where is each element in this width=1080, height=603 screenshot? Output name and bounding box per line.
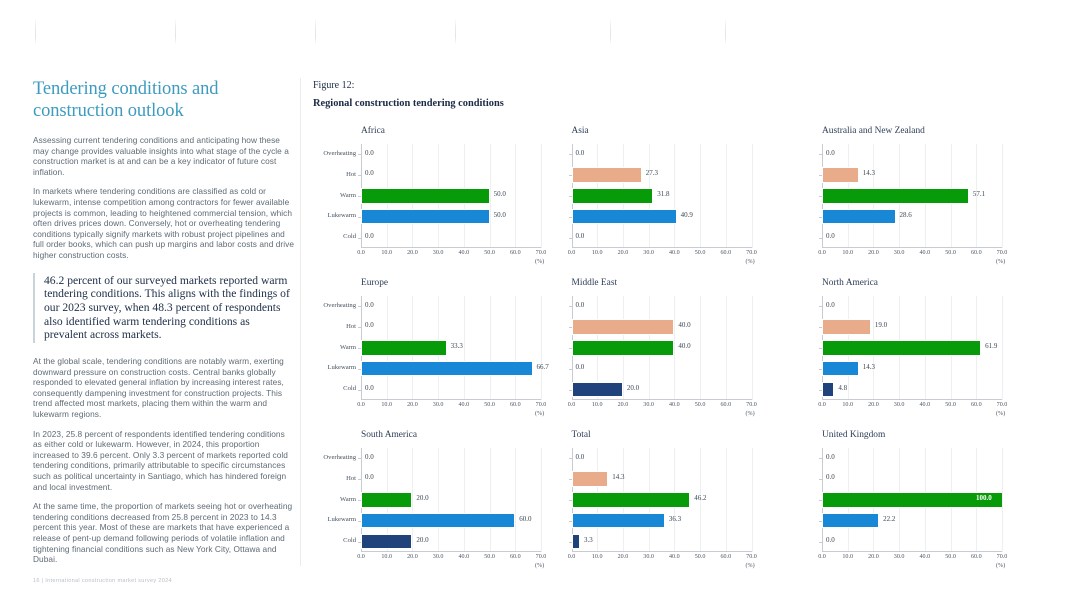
plot-area: 0.014.357.128.60.0 [822,144,1002,248]
x-tick-label: 60.0 [971,554,982,560]
x-tick-label: 60.0 [510,554,521,560]
plot: 0.0Overheating0.0Hot33.3Warm66.7Lukewarm… [361,296,541,400]
x-axis-unit: (%) [746,259,755,265]
bar [572,513,665,529]
bar-value-label: 0.0 [576,232,585,240]
x-tick-label: 60.0 [510,402,521,408]
x-tick-label: 20.0 [868,250,879,256]
plot: 0.00.0100.022.20.0 [822,448,1002,552]
gridline [752,448,753,552]
x-tick-label: 70.0 [746,402,757,408]
article-paragraph: Assessing current tendering conditions a… [33,135,295,177]
gridline [541,448,542,552]
x-tick-label: 60.0 [971,402,982,408]
x-tick-label: 20.0 [618,402,629,408]
bar [822,209,896,225]
x-tick-label: 10.0 [592,402,603,408]
x-tick-label: 10.0 [381,554,392,560]
bar [572,167,642,183]
x-tick-label: 40.0 [920,554,931,560]
gridline [752,296,753,400]
bar-value-label: 14.3 [863,363,875,371]
bar-row: 57.1 [822,186,1002,207]
x-axis: 0.010.020.030.040.050.060.070.0 [822,402,1002,411]
crop-mark [175,18,176,45]
bar-row: 14.3 [822,358,1002,379]
bar-value-label: 22.2 [883,515,895,523]
article-paragraph: In 2023, 25.8 percent of respondents ide… [33,429,295,493]
x-tick-label: 20.0 [407,250,418,256]
category-label: Cold [315,537,356,544]
x-tick-label: 30.0 [433,554,444,560]
bar-value-label: 40.0 [678,321,690,329]
bar-row: 0.0Hot [361,165,541,186]
bar-value-label: 0.0 [365,384,374,392]
bar-row: 0.0Hot [361,317,541,338]
x-tick-label: 40.0 [459,554,470,560]
x-tick-label: 50.0 [484,554,495,560]
x-tick-label: 20.0 [868,554,879,560]
bar-value-label: 0.0 [826,149,835,157]
bar [572,188,654,204]
category-label: Warm [315,344,356,351]
category-label: Warm [315,192,356,199]
x-tick-label: 60.0 [720,554,731,560]
x-tick-label: 70.0 [746,250,757,256]
crop-mark [455,18,456,45]
x-axis: 0.010.020.030.040.050.060.070.0 [361,250,541,259]
x-tick-label: 10.0 [592,250,603,256]
y-tick [819,458,822,459]
article-paragraph: At the global scale, tendering condition… [33,356,295,420]
bar [572,382,623,398]
chart-panel: Asia0.027.331.840.90.00.010.020.030.040.… [564,120,815,272]
crop-mark [35,18,36,45]
x-axis-unit: (%) [996,259,1005,265]
bar-value-label: 0.0 [365,473,374,481]
bar-row: 40.0 [572,338,752,359]
category-label: Overheating [315,454,356,461]
x-tick-label: 0.0 [357,554,365,560]
bar-value-label: 14.3 [863,169,875,177]
bar-value-label: 60.0 [519,515,531,523]
bar-value-label: 100.0 [976,494,992,502]
chart-panel-title: Africa [361,126,385,136]
bar [572,471,609,487]
x-tick-label: 20.0 [868,402,879,408]
x-axis-unit: (%) [746,563,755,569]
x-tick-label: 50.0 [484,250,495,256]
bar-value-label: 66.7 [537,363,549,371]
plot-area: 0.00.0100.022.20.0 [822,448,1002,552]
bar [572,534,580,550]
x-axis-unit: (%) [746,411,755,417]
bar-row: 0.0Overheating [361,144,541,165]
x-axis-unit: (%) [535,259,544,265]
chart-panel-title: Middle East [572,278,618,288]
bar-row: 0.0 [572,448,752,469]
x-axis: 0.010.020.030.040.050.060.070.0 [822,250,1002,259]
bar-row: 28.6 [822,206,1002,227]
x-tick-label: 70.0 [997,554,1008,560]
x-tick-label: 40.0 [459,250,470,256]
y-tick [358,479,361,480]
y-tick [819,238,822,239]
bar [572,319,675,335]
category-label: Hot [315,323,356,330]
bar-row: 0.0 [822,296,1002,317]
bar [822,492,1002,508]
y-tick [819,154,822,155]
x-tick-label: 30.0 [643,554,654,560]
bar [361,209,490,225]
bar [822,513,879,529]
y-tick [358,306,361,307]
category-label: Hot [315,171,356,178]
x-tick-label: 20.0 [618,554,629,560]
category-label: Lukewarm [315,516,356,523]
x-tick-label: 30.0 [894,554,905,560]
plot-area: 0.040.040.00.020.0 [572,296,752,400]
x-tick-label: 40.0 [669,554,680,560]
bar [361,340,447,356]
x-tick-label: 40.0 [920,402,931,408]
y-tick [569,306,572,307]
category-label: Overheating [315,302,356,309]
bar-value-label: 20.0 [627,384,639,392]
bar-value-label: 27.3 [646,169,658,177]
category-label: Overheating [315,150,356,157]
y-tick [569,369,572,370]
x-tick-label: 0.0 [357,250,365,256]
chart-panel-title: Australia and New Zealand [822,126,925,136]
x-tick-label: 60.0 [510,250,521,256]
bar-row: 0.0 [572,144,752,165]
bar-row: 60.0Lukewarm [361,510,541,531]
bar-value-label: 0.0 [365,301,374,309]
y-tick [569,238,572,239]
bar-value-label: 57.1 [973,190,985,198]
x-tick-label: 60.0 [971,250,982,256]
x-tick-label: 0.0 [568,250,576,256]
bar-row: 0.0 [822,144,1002,165]
bar-row: 0.0 [822,469,1002,490]
bar [572,492,691,508]
figure-title: Regional construction tendering conditio… [313,98,504,109]
x-tick-label: 0.0 [818,554,826,560]
plot-area: 0.0Overheating0.0Hot50.0Warm50.0Lukewarm… [361,144,541,248]
bar-value-label: 61.9 [985,342,997,350]
chart-panel-title: Europe [361,278,388,288]
y-tick [358,327,361,328]
bar-row: 0.0Overheating [361,296,541,317]
bar-row: 0.0Overheating [361,448,541,469]
bar-value-label: 0.0 [365,453,374,461]
bar [361,534,412,550]
x-tick-label: 30.0 [643,402,654,408]
x-tick-label: 10.0 [381,250,392,256]
plot: 0.014.357.128.60.0 [822,144,1002,248]
crop-mark [725,18,726,45]
bar [822,361,859,377]
bar-row: 46.2 [572,490,752,511]
plot: 0.0Overheating0.0Hot20.0Warm60.0Lukewarm… [361,448,541,552]
x-tick-label: 70.0 [746,554,757,560]
bar-value-label: 0.0 [576,453,585,461]
chart-panel-title: South America [361,430,417,440]
bar-row: 61.9 [822,338,1002,359]
bar-value-label: 0.0 [576,301,585,309]
bar-value-label: 20.0 [416,536,428,544]
category-label: Lukewarm [315,364,356,371]
bar-row: 0.0 [572,227,752,248]
bar [361,492,412,508]
bar-row: 33.3Warm [361,338,541,359]
x-tick-label: 40.0 [669,250,680,256]
x-axis: 0.010.020.030.040.050.060.070.0 [822,554,1002,563]
y-tick [358,238,361,239]
y-tick [569,154,572,155]
bar-row: 0.0Hot [361,469,541,490]
category-label: Warm [315,496,356,503]
bar [572,340,675,356]
gridline [1002,448,1003,552]
bar-row: 14.3 [822,165,1002,186]
figure-label: Figure 12: [313,80,354,91]
bar-value-label: 19.0 [875,321,887,329]
x-tick-label: 30.0 [433,250,444,256]
chart-panel-title: Asia [572,126,589,136]
x-axis: 0.010.020.030.040.050.060.070.0 [361,554,541,563]
x-tick-label: 70.0 [997,402,1008,408]
bar [822,319,871,335]
bar-row: 0.0 [822,227,1002,248]
x-tick-label: 60.0 [720,402,731,408]
plot: 0.014.346.236.33.3 [572,448,752,552]
x-tick-label: 50.0 [695,250,706,256]
bar [822,340,981,356]
bar-row: 0.0Cold [361,379,541,400]
category-label: Cold [315,385,356,392]
plot-area: 0.027.331.840.90.0 [572,144,752,248]
bar-value-label: 0.0 [365,169,374,177]
bar-row: 36.3 [572,510,752,531]
x-tick-label: 0.0 [818,250,826,256]
bar-value-label: 40.0 [678,342,690,350]
x-tick-label: 0.0 [568,402,576,408]
bar-row: 20.0Cold [361,531,541,552]
bar [822,382,834,398]
category-label: Hot [315,475,356,482]
plot-area: 0.0Overheating0.0Hot20.0Warm60.0Lukewarm… [361,448,541,552]
x-axis: 0.010.020.030.040.050.060.070.0 [572,554,752,563]
y-tick [358,390,361,391]
x-tick-label: 40.0 [459,402,470,408]
bar-value-label: 0.0 [826,536,835,544]
chart-panel-title: North America [822,278,878,288]
x-tick-label: 10.0 [842,250,853,256]
x-tick-label: 30.0 [894,402,905,408]
plot-area: 0.0Overheating0.0Hot33.3Warm66.7Lukewarm… [361,296,541,400]
bar [361,361,533,377]
bar-row: 4.8 [822,379,1002,400]
x-tick-label: 40.0 [920,250,931,256]
x-tick-label: 70.0 [536,402,547,408]
y-tick [358,154,361,155]
chart-panel: South America0.0Overheating0.0Hot20.0War… [313,424,564,576]
bar-value-label: 33.3 [451,342,463,350]
bar [822,167,859,183]
crop-mark [315,18,316,45]
bar-value-label: 0.0 [826,301,835,309]
bar-value-label: 50.0 [494,190,506,198]
bar-value-label: 4.8 [838,384,847,392]
bar-value-label: 14.3 [612,473,624,481]
bar-value-label: 0.0 [365,321,374,329]
x-tick-label: 50.0 [945,250,956,256]
bar-value-label: 36.3 [669,515,681,523]
x-tick-label: 0.0 [818,402,826,408]
x-tick-label: 20.0 [407,402,418,408]
x-tick-label: 50.0 [695,402,706,408]
y-tick [819,542,822,543]
x-tick-label: 50.0 [945,402,956,408]
x-tick-label: 70.0 [997,250,1008,256]
x-axis: 0.010.020.030.040.050.060.070.0 [361,402,541,411]
bar [361,513,515,529]
x-axis-unit: (%) [535,411,544,417]
x-axis-unit: (%) [535,563,544,569]
bar-row: 66.7Lukewarm [361,358,541,379]
plot: 0.027.331.840.90.0 [572,144,752,248]
x-tick-label: 50.0 [484,402,495,408]
bar-row: 19.0 [822,317,1002,338]
x-tick-label: 20.0 [407,554,418,560]
gridline [541,296,542,400]
bar-row: 20.0Warm [361,490,541,511]
x-tick-label: 10.0 [381,402,392,408]
x-tick-label: 30.0 [894,250,905,256]
x-tick-label: 60.0 [720,250,731,256]
bar-value-label: 3.3 [584,536,593,544]
chart-grid: Africa0.0Overheating0.0Hot50.0Warm50.0Lu… [313,120,1065,576]
bar-row: 31.8 [572,186,752,207]
bar-value-label: 0.0 [365,149,374,157]
bar-value-label: 0.0 [365,232,374,240]
y-tick [569,458,572,459]
gridline [1002,296,1003,400]
x-tick-label: 0.0 [568,554,576,560]
bar [572,209,677,225]
x-tick-label: 30.0 [643,250,654,256]
x-tick-label: 40.0 [669,402,680,408]
bar-row: 14.3 [572,469,752,490]
category-label: Cold [315,233,356,240]
bar-row: 50.0Warm [361,186,541,207]
pull-quote: 46.2 percent of our surveyed markets rep… [33,273,295,344]
bar-row: 40.0 [572,317,752,338]
category-label: Lukewarm [315,212,356,219]
gridline [1002,144,1003,248]
x-tick-label: 10.0 [592,554,603,560]
bar-row: 22.2 [822,510,1002,531]
bar-row: 3.3 [572,531,752,552]
bar-value-label: 0.0 [576,149,585,157]
chart-row: Europe0.0Overheating0.0Hot33.3Warm66.7Lu… [313,272,1065,424]
x-tick-label: 0.0 [357,402,365,408]
chart-row: South America0.0Overheating0.0Hot20.0War… [313,424,1065,576]
chart-panel: Africa0.0Overheating0.0Hot50.0Warm50.0Lu… [313,120,564,272]
x-tick-label: 70.0 [536,250,547,256]
bar-value-label: 0.0 [826,232,835,240]
plot-area: 0.019.061.914.34.8 [822,296,1002,400]
chart-panel-title: United Kingdom [822,430,885,440]
chart-panel: North America0.019.061.914.34.80.010.020… [814,272,1065,424]
bar-row: 0.0Cold [361,227,541,248]
bar-value-label: 40.9 [681,211,693,219]
plot: 0.019.061.914.34.8 [822,296,1002,400]
chart-panel: United Kingdom0.00.0100.022.20.00.010.02… [814,424,1065,576]
pull-quote-text: 46.2 percent of our surveyed markets rep… [44,274,295,343]
x-axis: 0.010.020.030.040.050.060.070.0 [572,250,752,259]
x-axis: 0.010.020.030.040.050.060.070.0 [572,402,752,411]
page-title: Tendering conditions and construction ou… [33,78,295,122]
y-tick [358,458,361,459]
chart-panel: Middle East0.040.040.00.020.00.010.020.0… [564,272,815,424]
column-divider [300,78,301,566]
bar-value-label: 0.0 [826,453,835,461]
chart-row: Africa0.0Overheating0.0Hot50.0Warm50.0Lu… [313,120,1065,272]
bar-row: 20.0 [572,379,752,400]
bar-value-label: 28.6 [900,211,912,219]
bar-row: 0.0 [822,448,1002,469]
plot: 0.040.040.00.020.0 [572,296,752,400]
bar-row: 100.0 [822,490,1002,511]
chart-panel-title: Total [572,430,591,440]
x-tick-label: 10.0 [842,402,853,408]
y-tick [358,175,361,176]
bar-row: 0.0 [572,358,752,379]
plot: 0.0Overheating0.0Hot50.0Warm50.0Lukewarm… [361,144,541,248]
bar-row: 50.0Lukewarm [361,206,541,227]
bar-value-label: 50.0 [494,211,506,219]
y-tick [819,306,822,307]
bar [361,188,490,204]
article-column: Tendering conditions and construction ou… [33,78,295,574]
crop-marks [0,0,1080,50]
x-tick-label: 30.0 [433,402,444,408]
x-tick-label: 50.0 [695,554,706,560]
article-paragraph: In markets where tendering conditions ar… [33,186,295,260]
crop-mark [610,18,611,45]
x-tick-label: 10.0 [842,554,853,560]
bar-value-label: 0.0 [826,473,835,481]
chart-panel: Total0.014.346.236.33.30.010.020.030.040… [564,424,815,576]
bar-row: 27.3 [572,165,752,186]
bar-value-label: 46.2 [694,494,706,502]
x-axis-unit: (%) [996,563,1005,569]
bar-value-label: 0.0 [576,363,585,371]
gridline [752,144,753,248]
article-paragraph: At the same time, the proportion of mark… [33,501,295,565]
bar-value-label: 20.0 [416,494,428,502]
x-tick-label: 50.0 [945,554,956,560]
gridline [541,144,542,248]
chart-panel: Europe0.0Overheating0.0Hot33.3Warm66.7Lu… [313,272,564,424]
bar-row: 40.9 [572,206,752,227]
x-tick-label: 70.0 [536,554,547,560]
page-footer: 16 | International construction market s… [33,578,172,584]
